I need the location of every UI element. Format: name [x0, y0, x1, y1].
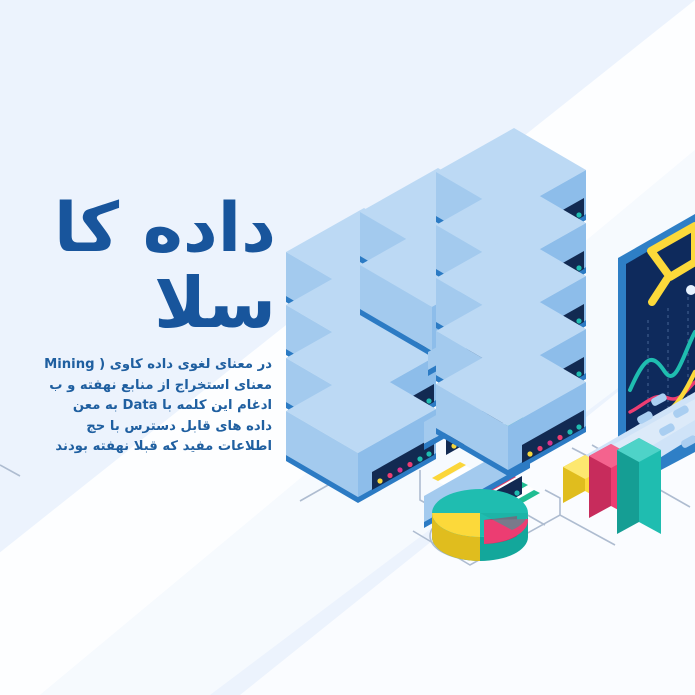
- bar-teal[interactable]: [617, 438, 661, 534]
- bar-chart[interactable]: [0, 0, 695, 695]
- infographic-canvas: داده کا سلا در معنای لغوی داده کاوی ( Mi…: [0, 0, 695, 695]
